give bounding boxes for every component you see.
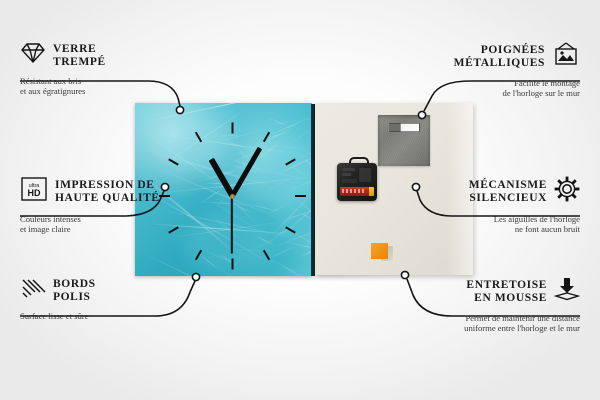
callout-title-line1: VERRE	[53, 43, 106, 56]
callout-verre-trempe: VERRE TREMPÉ Résistant aux bris et aux é…	[20, 42, 210, 97]
callout-sub-line1: Couleurs intenses	[20, 214, 220, 224]
infographic-canvas: VERRE TREMPÉ Résistant aux bris et aux é…	[0, 0, 600, 400]
clock-tick	[286, 158, 297, 165]
clock-tick	[286, 226, 297, 233]
callout-mecanisme-silencieux: MÉCANISME SILENCIEUX Les aiguilles de l'…	[390, 176, 580, 235]
clock-tick	[231, 123, 233, 134]
callout-sub-line2: ne font aucun bruit	[390, 224, 580, 234]
mechanism-detail	[342, 168, 355, 171]
callout-sub-line2: et image claire	[20, 224, 220, 234]
clock-minute-hand	[230, 146, 262, 197]
callout-sub-line1: Permet de maintenir une distance	[370, 313, 580, 323]
callout-entretoise-en-mousse: ENTRETOISE EN MOUSSE Permet de maintenir…	[370, 277, 580, 334]
callout-sub-line2: et aux égratignures	[20, 86, 210, 96]
callout-title-line2: POLIS	[53, 291, 96, 304]
gear-icon	[554, 176, 580, 207]
clock-center-hub	[230, 194, 235, 199]
callout-title-line2: EN MOUSSE	[466, 292, 547, 305]
clock-tick	[194, 132, 201, 143]
callout-title-line2: SILENCIEUX	[469, 192, 547, 205]
clock-tick	[295, 195, 306, 197]
mechanism-detail	[342, 179, 357, 183]
callout-sub-line2: de l'horloge sur le mur	[390, 88, 580, 98]
callout-title-line1: IMPRESSION DE	[55, 179, 160, 192]
svg-text:HD: HD	[28, 188, 41, 198]
clock-second-hand	[231, 196, 233, 254]
clock-tick	[231, 259, 233, 270]
ultra-hd-icon: ultra HD	[20, 176, 48, 207]
polished-edges-icon	[20, 277, 46, 304]
quartz-mechanism	[337, 157, 377, 201]
callout-title-line2: TREMPÉ	[53, 56, 106, 69]
callout-poignees-metalliques: POIGNÉES MÉTALLIQUES Facilite le montage…	[390, 42, 580, 99]
callout-sub-line1: Résistant aux bris	[20, 76, 210, 86]
callout-sub-line2: uniforme entre l'horloge et le mur	[370, 323, 580, 333]
hanger-slot	[388, 123, 420, 132]
callout-title-line2: MÉTALLIQUES	[454, 57, 545, 70]
battery-terminal	[369, 187, 374, 196]
callout-title-line2: HAUTE QUALITÉ	[55, 192, 160, 205]
callout-bords-polis: BORDS POLIS Surface lisse et sûre	[20, 277, 210, 321]
callout-title-line1: ENTRETOISE	[466, 279, 547, 292]
clock-tick	[262, 132, 269, 143]
callout-sub-line1: Facilite le montage	[390, 78, 580, 88]
callout-title-line1: BORDS	[53, 278, 96, 291]
foam-spacer	[371, 243, 388, 259]
battery	[340, 187, 371, 196]
callout-sub-line1: Surface lisse et sûre	[20, 311, 210, 321]
mechanism-body	[337, 163, 377, 201]
callout-impression-haute-qualite: ultra HD IMPRESSION DE HAUTE QUALITÉ Cou…	[20, 176, 220, 235]
clock-tick	[194, 250, 201, 261]
battery-label	[342, 189, 366, 193]
clock-tick	[168, 158, 179, 165]
metal-hanger-plate	[378, 115, 430, 166]
callout-sub-line1: Les aiguilles de l'horloge	[390, 214, 580, 224]
mechanism-detail	[342, 173, 351, 176]
diamond-icon	[20, 42, 46, 69]
callout-title-line1: MÉCANISME	[469, 179, 547, 192]
foam-spacer-icon	[554, 277, 580, 306]
clock-tick	[262, 250, 269, 261]
mechanism-detail	[359, 168, 371, 182]
picture-hanger-icon	[552, 42, 580, 71]
callout-title-line1: POIGNÉES	[454, 44, 545, 57]
